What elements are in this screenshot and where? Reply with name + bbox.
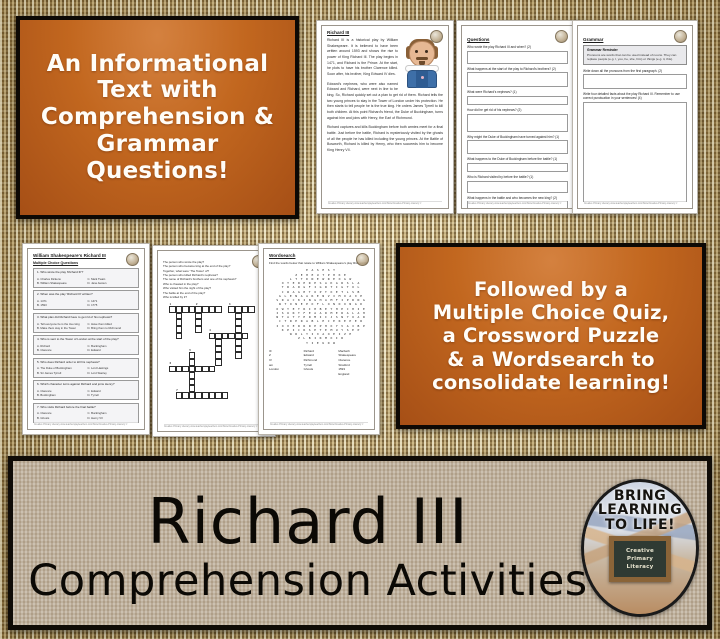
crossword-cell[interactable] [189,366,196,373]
question-text: Who is Richard visited by before the bat… [467,175,568,179]
mc-question-text: 7. Who visits Richard before the final b… [37,406,135,410]
crossword-cell[interactable] [235,313,242,320]
multiple-choice-question[interactable]: 5. Who does Richard order to kill his ne… [33,358,139,378]
wordsearch-word: London [269,367,300,372]
crossword-cell[interactable] [215,392,222,399]
crossword-cell[interactable] [195,366,202,373]
question-text: What happens in the battle and who becom… [467,196,568,200]
crossword-cell[interactable] [215,339,222,346]
brand-logo-badge: BRING LEARNING TO LIFE! Creative Primary… [581,479,699,617]
crossword-cell[interactable] [235,333,242,340]
answer-box[interactable] [583,74,687,89]
multiple-choice-question[interactable]: 7. Who visits Richard before the final b… [33,403,139,423]
wordsearch-word-list: IIIZIVamLondonRichardEdwardRichmondTyrre… [269,349,369,377]
crossword-number: 4 [209,329,210,332]
crossword-cell[interactable] [176,319,183,326]
crossword-cell[interactable] [235,326,242,333]
quiz-subtitle: Multiple Choice Questions [33,261,139,265]
crossword-cell[interactable] [189,372,196,379]
crossword-number: 7 [176,389,177,392]
crossword-cell[interactable] [215,306,222,313]
mc-option[interactable]: D. Lord Stanley [88,371,136,375]
answer-box[interactable] [467,181,568,193]
seal-icon [674,30,687,43]
crossword-cell[interactable] [209,366,216,373]
mc-option[interactable]: D. Tyrrell [88,393,136,397]
comprehension-questions-sheet: Questions Who wrote the play Richard III… [461,25,574,209]
crossword-cell[interactable] [235,306,242,313]
answer-box[interactable] [467,51,568,64]
answer-box[interactable] [467,72,568,87]
mc-option-grid: A. Tell everyone he is the true kingC. H… [37,322,135,330]
wordsearch-word: Ghosts [304,367,335,372]
crossword-number: 3 [229,303,230,306]
mc-option-grid: A. ClarenceC. BuckinghamB. GhostsD. Henr… [37,411,135,419]
crossword-cell[interactable] [182,366,189,373]
activities-line-1: Followed by a [406,278,696,301]
crossword-cell[interactable] [182,306,189,313]
crossword-cell[interactable] [195,392,202,399]
activities-line-4: & a Wordsearch to [406,348,696,371]
crossword-cell[interactable] [222,333,229,340]
crossword-cell[interactable] [235,352,242,359]
answer-box[interactable] [467,96,568,105]
crossword-cell[interactable] [235,346,242,353]
grammar-question-text: Write four detailed facts about the play… [583,92,687,100]
question-text: Who wrote the play Richard III and when?… [467,45,568,49]
question-text: Why might the Duke of Buckingham have tu… [467,135,568,139]
promo-line-2: Text with [26,77,289,104]
mc-question-text: 1. Who wrote the play 'Richard III'? [37,271,135,275]
grammar-reminder-text: Pronouns are words that can be used inst… [587,53,683,62]
crossword-cell[interactable] [235,319,242,326]
promo-panel-activities: Followed by a Multiple Choice Quiz, a Cr… [396,243,706,429]
multiple-choice-question[interactable]: 4. Who is sent to the Tower of London at… [33,335,139,355]
crossword-cell[interactable] [242,306,249,313]
multiple-choice-question[interactable]: 2. When was the play 'Richard III' writt… [33,290,139,310]
title-banner-text: Richard III Comprehension Activities [23,465,593,630]
crossword-cell[interactable] [209,392,216,399]
crossword-sheet: The person who wrote the play?The person… [157,250,271,432]
crossword-clue-list: The person who wrote the play?The person… [163,260,265,299]
grammar-reminder-box: Grammar Reminder Pronouns are words that… [583,45,687,65]
mc-option[interactable]: D. 1775 [88,303,136,307]
promo-line-4: Grammar [26,131,289,158]
crossword-cell[interactable] [176,313,183,320]
promo-panel-activities-lines: Followed by a Multiple Choice Quiz, a Cr… [400,278,702,395]
crossword-cell[interactable] [189,306,196,313]
mc-option[interactable]: D. Edward [88,348,136,352]
mc-question-text: 3. What plan did Richard have to get rid… [37,316,135,320]
crossword-cell[interactable] [202,392,209,399]
crossword-cell[interactable] [176,333,183,340]
mc-question-text: 5. Who does Richard order to kill his ne… [37,361,135,365]
crossword-clue: Who is killed by it? [163,295,265,299]
multiple-choice-question[interactable]: 3. What plan did Richard have to get rid… [33,313,139,333]
mc-option[interactable]: D. Bring them to Richmond [88,326,136,330]
chalkboard-line-3: Literacy [626,563,653,571]
information-text-sheet: Richard III Richard III is a historical … [321,25,449,209]
question-text: How did he get rid of his nephews? (2) [467,108,568,112]
title-banner: Richard III Comprehension Activities BRI… [8,456,712,630]
wordsearch-title: Wordsearch [269,253,369,258]
crossword-cell[interactable] [215,333,222,340]
mc-option[interactable]: B. Sir James Tyrrell [37,371,85,375]
mc-question-text: 4. Who is sent to the Tower of London at… [37,338,135,342]
answer-box[interactable] [583,102,687,202]
multiple-choice-sheet: William Shakespeare's Richard III Multip… [27,248,145,430]
crossword-cell[interactable] [176,306,183,313]
multiple-choice-question-list: 1. Who wrote the play 'Richard III'?A. C… [33,268,139,423]
promo-line-5: Questions! [26,158,289,185]
crossword-cell[interactable] [195,313,202,320]
crossword-cell[interactable] [195,326,202,333]
wordsearch-word-column: MacbethShakespeareClarenceStratford1593E… [338,349,369,377]
crossword-cell[interactable] [235,339,242,346]
mc-option[interactable]: B. William Shakespeare [37,281,85,285]
page-title: Richard III [148,491,469,553]
grammar-reminder-title: Grammar Reminder [587,48,683,52]
question-text: What happens at the start of the play to… [467,67,568,71]
wordsearch-letter-grid[interactable]: E A S E S Y Z E H E U T P H K E L T T D … [269,268,373,345]
grammar-title: Grammar [583,37,687,42]
crossword-cell[interactable] [228,306,235,313]
crossword-cell[interactable] [169,306,176,313]
crossword-cell[interactable] [209,306,216,313]
crossword-cell[interactable] [169,366,176,373]
activities-line-5: consolidate learning! [406,371,696,394]
worksheet-page-comprehension-questions[interactable]: Questions Who wrote the play Richard III… [456,20,579,214]
worksheet-page-grammar[interactable]: Grammar Grammar Reminder Pronouns are wo… [572,20,698,214]
crossword-cell[interactable] [222,392,229,399]
crossword-cell[interactable] [176,366,183,373]
worksheet-page-multiple-choice[interactable]: William Shakespeare's Richard III Multip… [22,243,150,435]
shakespeare-cartoon-illustration [401,38,443,88]
page-footer: Creative Primary Literacy www.teacherspa… [468,201,567,205]
wordsearch-word-column: RichardEdwardRichmondTyrrellGhosts [304,349,335,377]
information-text-title: Richard III [327,30,443,35]
information-paragraph-3: Richard captures and kills Buckingham be… [327,125,443,153]
mc-option-grid: A. ClarenceC. EdwardB. BuckinghamD. Tyrr… [37,389,135,397]
mc-option[interactable]: B. Make them stay in the Tower [37,326,85,330]
mc-option[interactable]: B. Ghosts [37,416,85,420]
page-subtitle: Comprehension Activities [28,559,587,604]
crossword-cell[interactable] [242,333,249,340]
logo-line-2: LEARNING [598,503,682,517]
logo-line-3: TO LIFE! [605,518,675,532]
page-footer: Creative Primary Literacy www.teacherspa… [164,424,264,428]
crossword-cell[interactable] [248,306,255,313]
wordsearch-word: England [338,372,369,377]
answer-box[interactable] [467,140,568,154]
page-footer: Creative Primary Literacy www.teacherspa… [584,201,686,205]
crossword-cell[interactable] [189,385,196,392]
chalkboard-line-2: Primary [627,555,653,563]
promo-line-1: An Informational [26,51,289,78]
crossword-cell[interactable] [202,366,209,373]
wordsearch-sheet: Wordsearch Find the words below that rel… [263,248,375,430]
mc-option[interactable]: B. 1593 [37,303,85,307]
crossword-number: 1 [170,303,171,306]
seal-icon [356,253,369,266]
mc-question-text: 6. Which character turns against Richard… [37,383,135,387]
mc-option[interactable]: B. Clarence [37,348,85,352]
crossword-number: 6 [170,362,171,365]
answer-box[interactable] [467,114,568,132]
seal-icon [126,253,139,266]
page-footer: Creative Primary Literacy www.teacherspa… [270,422,368,426]
crossword-cell[interactable] [228,333,235,340]
crossword-cell[interactable] [215,346,222,353]
mc-option-grid: A. 1471C. 1471B. 1593D. 1775 [37,299,135,307]
crossword-number: 5 [189,349,190,352]
quiz-title: William Shakespeare's Richard III [33,253,139,258]
questions-title: Questions [467,37,568,42]
activities-line-3: a Crossword Puzzle [406,324,696,347]
question-text: What were Richard's nephews? (1) [467,90,568,94]
chalkboard-line-1: Creative [626,547,654,555]
chalkboard-icon: Creative Primary Literacy [609,536,671,582]
seal-icon [555,30,568,43]
crossword-cell[interactable] [189,359,196,366]
question-text: What happens to the Duke of Buckingham b… [467,157,568,161]
promo-panel-lines: An Informational Text with Comprehension… [20,51,295,184]
mc-option-grid: A. The Duke of BuckinghamC. Lord Hasting… [37,366,135,374]
promo-panel-informational-text: An Informational Text with Comprehension… [16,16,299,219]
grammar-question-text: Write down all the pronouns from the fir… [583,69,687,73]
crossword-cell[interactable] [189,352,196,359]
answer-box[interactable] [467,163,568,172]
crossword-cell[interactable] [189,392,196,399]
wordsearch-intro: Find the words below that relate to Will… [269,261,369,265]
mc-option[interactable]: D. Jane Austen [88,281,136,285]
crossword-cell[interactable] [195,319,202,326]
worksheet-page-information-text[interactable]: Richard III Richard III is a historical … [316,20,454,214]
mc-option-grid: A. RichardC. BuckinghamB. ClarenceD. Edw… [37,344,135,352]
crossword-cell[interactable] [215,359,222,366]
crossword-cell[interactable] [202,306,209,313]
crossword-cell[interactable] [176,392,183,399]
crossword-cell[interactable] [195,306,202,313]
multiple-choice-question[interactable]: 1. Who wrote the play 'Richard III'?A. C… [33,268,139,288]
wordsearch-word-column: IIIZIVamLondon [269,349,300,377]
crossword-cell[interactable] [176,326,183,333]
crossword-cell[interactable] [189,379,196,386]
mc-question-text: 2. When was the play 'Richard III' writt… [37,293,135,297]
page-footer: Creative Primary Literacy www.teacherspa… [34,422,138,426]
crossword-grid[interactable]: 1234567 [163,304,265,414]
crossword-cell[interactable] [215,352,222,359]
mc-option-grid: A. Charles DickensC. Mark TwainB. Willia… [37,277,135,285]
mc-option[interactable]: B. Buckingham [37,393,85,397]
grammar-sheet: Grammar Grammar Reminder Pronouns are wo… [577,25,693,209]
crossword-number: 2 [196,303,197,306]
worksheet-page-wordsearch[interactable]: Wordsearch Find the words below that rel… [258,243,380,435]
crossword-cell[interactable] [182,392,189,399]
multiple-choice-question[interactable]: 6. Which character turns against Richard… [33,380,139,400]
page-footer: Creative Primary Literacy www.teacherspa… [328,201,442,205]
promo-line-3: Comprehension & [26,104,289,131]
activities-line-2: Multiple Choice Quiz, [406,301,696,324]
mc-option[interactable]: D. Henry VII [88,416,136,420]
crossword-cell[interactable] [209,333,216,340]
